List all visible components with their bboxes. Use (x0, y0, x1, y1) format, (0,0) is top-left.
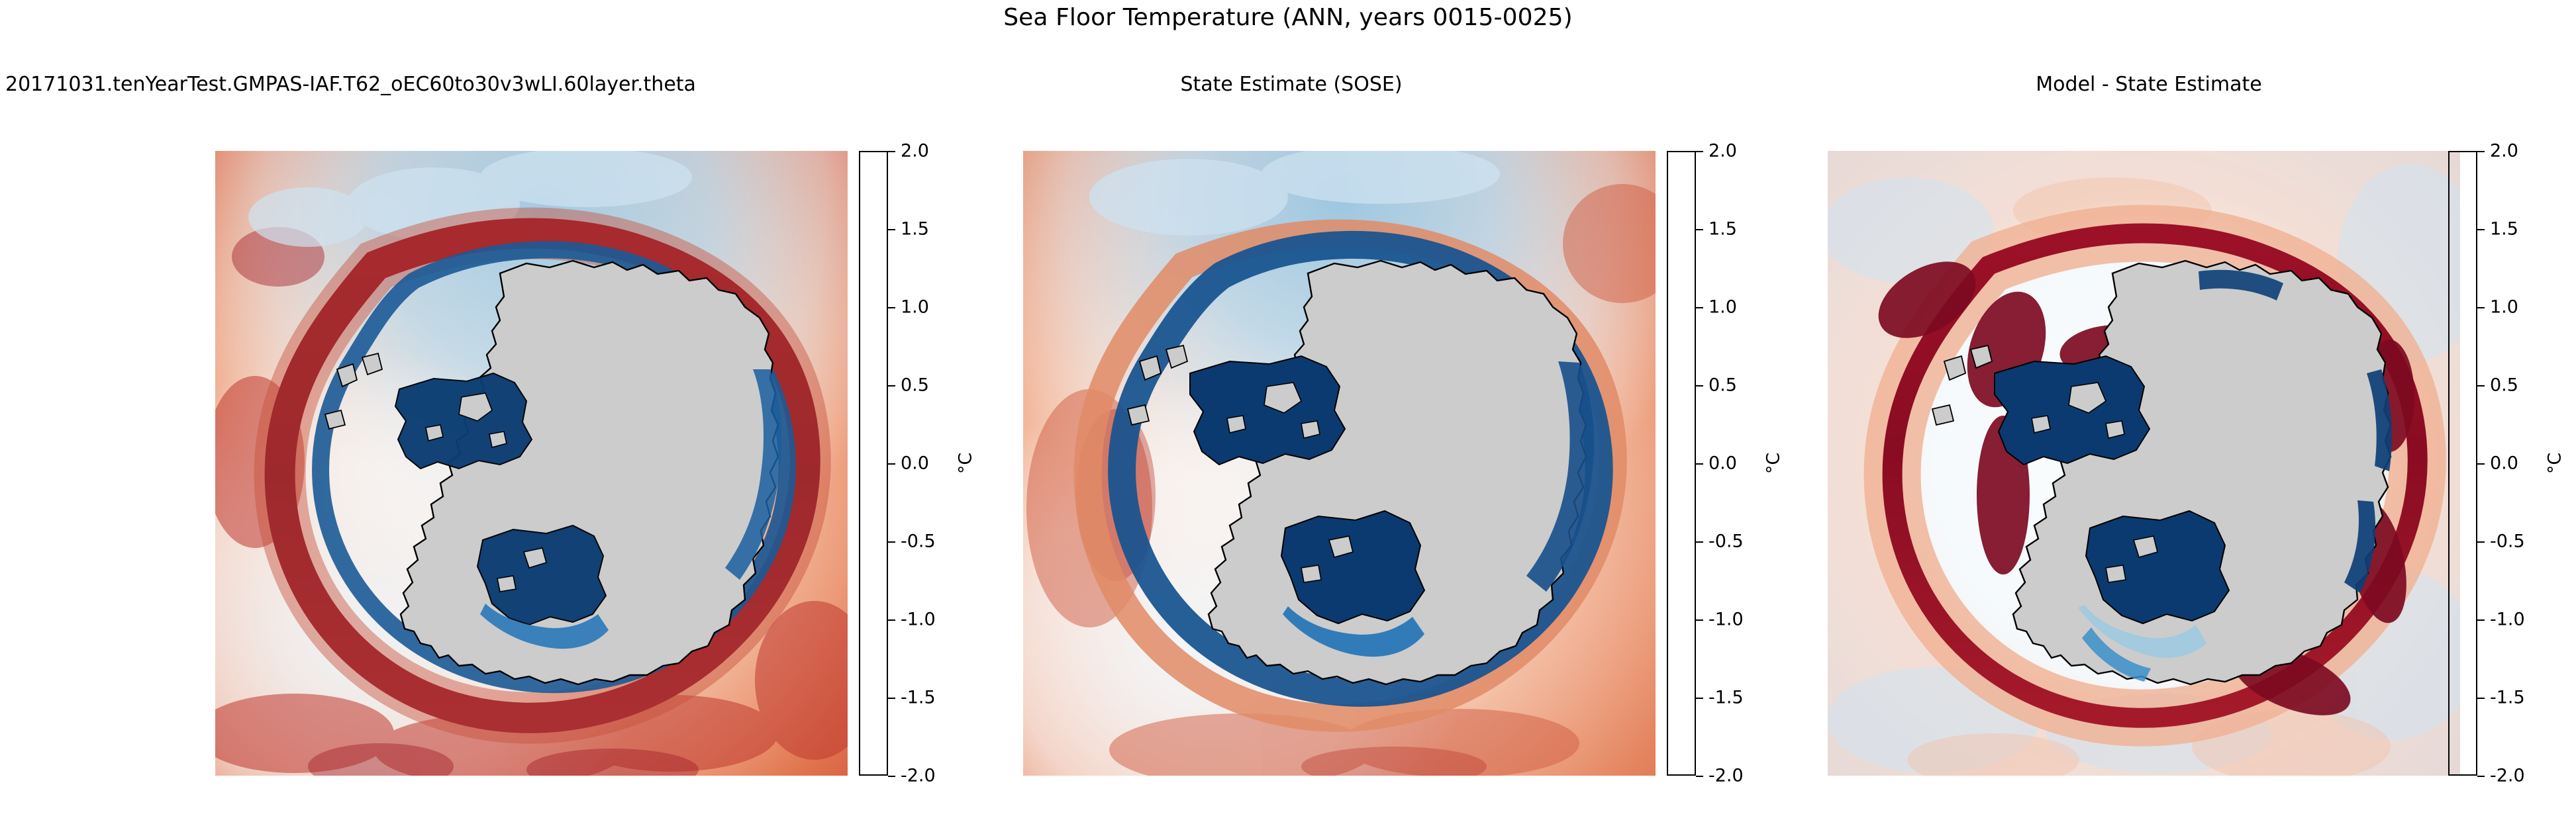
colorbar-unit-label: °C (2545, 453, 2565, 474)
cb-label: 0.0 (1709, 453, 1737, 474)
cb-label: 1.0 (901, 297, 929, 318)
weddell-cold-bias (1995, 356, 2150, 465)
cb-label: 0.5 (2490, 375, 2518, 396)
state-estimate-colorbar-gradient (1667, 151, 1696, 776)
difference-panel-title: Model - State Estimate (1722, 73, 2576, 96)
cb-label: 0.0 (2490, 453, 2518, 474)
model-map-svg (215, 151, 848, 776)
state-estimate-colorbar-ticks: 2.0 1.5 1.0 0.5 0.0 -0.5 -1.0 -1.5 -2.0 … (1696, 151, 1775, 776)
cb-label: -0.5 (901, 531, 936, 552)
cb-label: -2.0 (1709, 766, 1744, 786)
cb-label: -2.0 (2490, 766, 2525, 786)
cb-label: -0.5 (1709, 531, 1744, 552)
cb-label: 1.0 (1709, 297, 1737, 318)
model-colorbar-ticks: 2.0 1.5 1.0 0.5 0.0 -0.5 -1.0 -1.5 -2.0 … (888, 151, 967, 776)
cb-label: 1.5 (901, 219, 929, 240)
colorbar-unit-label: °C (1763, 453, 1784, 474)
state-estimate-map[interactable] (1023, 151, 1656, 776)
model-colorbar-gradient (859, 151, 888, 776)
cb-label: -1.0 (901, 610, 936, 630)
cb-label: 0.5 (1709, 375, 1737, 396)
cb-label: -2.0 (901, 766, 936, 786)
cb-label: 1.0 (2490, 297, 2518, 318)
cb-label: 2.0 (901, 141, 929, 161)
cb-label: 2.0 (1709, 141, 1737, 161)
cb-label: 2.0 (2490, 141, 2518, 161)
cb-label: -1.5 (1709, 688, 1744, 708)
weddell-cold-pocket (395, 373, 532, 469)
weddell-cold-pocket (1190, 356, 1345, 465)
cb-label: 1.5 (2490, 219, 2518, 240)
cb-label: -0.5 (2490, 531, 2525, 552)
difference-colorbar-ticks: 2.0 1.5 1.0 0.5 0.0 -0.5 -1.0 -1.5 -2.0 … (2477, 151, 2557, 776)
model-panel-title: 20171031.tenYearTest.GMPAS-IAF.T62_oEC60… (5, 73, 696, 96)
figure-suptitle: Sea Floor Temperature (ANN, years 0015-0… (0, 4, 2576, 31)
cb-label: -1.5 (901, 688, 936, 708)
cb-label: -1.0 (2490, 610, 2525, 630)
cb-label: 0.5 (901, 375, 929, 396)
state-estimate-map-svg (1023, 151, 1656, 776)
state-estimate-panel-title: State Estimate (SOSE) (861, 73, 1722, 96)
colorbar-unit-label: °C (956, 453, 976, 474)
difference-map-svg (1828, 151, 2460, 776)
cb-label: 1.5 (1709, 219, 1737, 240)
difference-map[interactable] (1828, 151, 2460, 776)
cb-label: -1.0 (1709, 610, 1744, 630)
cb-label: 0.0 (901, 453, 929, 474)
difference-colorbar-gradient (2448, 151, 2477, 776)
cb-label: -1.5 (2490, 688, 2525, 708)
model-map[interactable] (215, 151, 848, 776)
